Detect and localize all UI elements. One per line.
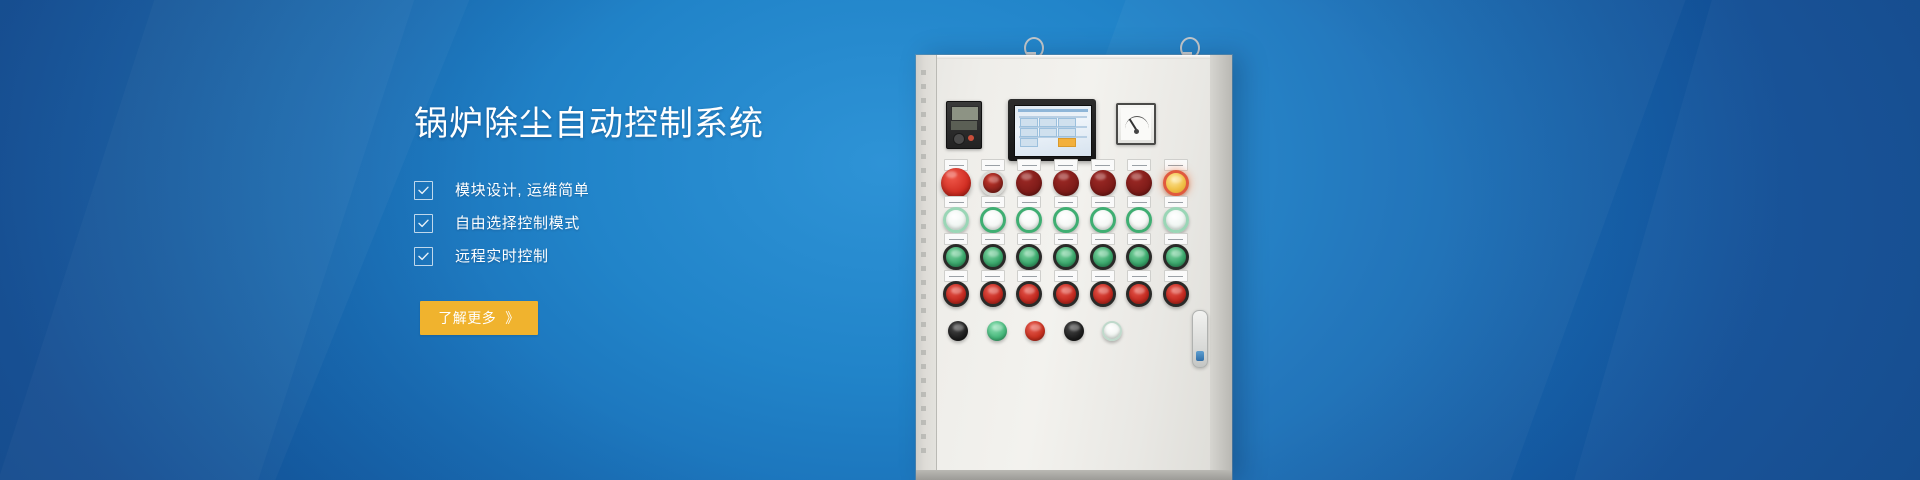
indicator-red-ringed[interactable]: [980, 170, 1006, 196]
button-green-start-5[interactable]: [1090, 244, 1116, 270]
cabinet-plinth: [916, 470, 1232, 480]
button-white-green-ring-7[interactable]: [1163, 207, 1189, 233]
button-white-green-ring-3[interactable]: [1016, 207, 1042, 233]
controller-display-lower: [951, 121, 977, 130]
button-green-start-2[interactable]: [980, 244, 1006, 270]
feature-label-2: 自由选择控制模式: [455, 215, 580, 232]
row-green-start: [943, 244, 1189, 270]
meter-scale-arc: [1125, 116, 1149, 129]
button-white-green-ring-4[interactable]: [1053, 207, 1079, 233]
hmi-cell: [1058, 118, 1076, 127]
cabinet-door-handle[interactable]: [1192, 310, 1208, 368]
chevron-right-double-icon: 》: [505, 311, 520, 325]
controller-display-upper: [951, 106, 979, 121]
button-red-stop-1[interactable]: [943, 281, 969, 307]
feature-item-2: 自由选择控制模式: [414, 207, 894, 240]
controller-knob-icon[interactable]: [953, 133, 965, 145]
button-white-green-ring-5[interactable]: [1090, 207, 1116, 233]
cabinet-hinge-strip: [916, 55, 937, 480]
analog-meter: [1116, 103, 1156, 145]
learn-more-label: 了解更多: [438, 308, 496, 328]
button-red-stop-5[interactable]: [1090, 281, 1116, 307]
cabinet-top-edge: [916, 55, 1232, 59]
indicator-white-small-1[interactable]: [1099, 318, 1125, 344]
indicator-red-1[interactable]: [1016, 170, 1042, 196]
hmi-touch-panel[interactable]: [1008, 99, 1096, 161]
row-red-stop: [943, 281, 1189, 307]
product-hero-banner: 锅炉除尘自动控制系统 模块设计, 运维简单 自由选择控制模式: [0, 0, 1920, 480]
checkbox-check-icon: [414, 214, 433, 233]
button-matrix: [943, 170, 1189, 355]
digital-temperature-controller[interactable]: [946, 101, 982, 149]
button-white-green-ring-2[interactable]: [980, 207, 1006, 233]
row-emergency-and-indicators: [943, 170, 1189, 196]
controller-status-led: [968, 135, 974, 141]
indicator-green-small-1[interactable]: [984, 318, 1010, 344]
button-red-stop-2[interactable]: [980, 281, 1006, 307]
cabinet-hinge-rivets: [921, 70, 926, 470]
door-lock-icon[interactable]: [1196, 351, 1204, 361]
hmi-cell: [1058, 128, 1076, 137]
checkbox-check-icon: [414, 181, 433, 200]
feature-label-1: 模块设计, 运维简单: [455, 182, 589, 199]
button-green-start-7[interactable]: [1163, 244, 1189, 270]
hmi-cell: [1039, 128, 1057, 137]
feature-item-1: 模块设计, 运维简单: [414, 174, 894, 207]
button-green-start-6[interactable]: [1126, 244, 1152, 270]
button-green-start-4[interactable]: [1053, 244, 1079, 270]
feature-list: 模块设计, 运维简单 自由选择控制模式 远程实时控制: [414, 174, 894, 273]
indicator-red-4[interactable]: [1126, 170, 1152, 196]
hmi-screen[interactable]: [1014, 105, 1092, 157]
button-red-stop-3[interactable]: [1016, 281, 1042, 307]
emergency-stop-button[interactable]: [943, 170, 969, 196]
hmi-cell-highlight: [1058, 138, 1076, 147]
hmi-title-bar: [1018, 109, 1088, 112]
hmi-cell: [1039, 118, 1057, 127]
feature-label-3: 远程实时控制: [455, 248, 549, 265]
hmi-cell: [1020, 118, 1038, 127]
indicator-red-2[interactable]: [1053, 170, 1079, 196]
learn-more-button[interactable]: 了解更多 》: [420, 301, 538, 335]
indicator-amber-lit[interactable]: [1163, 170, 1189, 196]
button-white-green-ring-6[interactable]: [1126, 207, 1152, 233]
button-red-stop-4[interactable]: [1053, 281, 1079, 307]
banner-copy-block: 锅炉除尘自动控制系统 模块设计, 运维简单 自由选择控制模式: [414, 104, 894, 335]
button-green-start-3[interactable]: [1016, 244, 1042, 270]
cabinet-door-right-edge: [1210, 55, 1232, 480]
control-cabinet-photo: [880, 0, 1920, 480]
row-mixed-selector: [945, 318, 1125, 344]
button-green-start-1[interactable]: [943, 244, 969, 270]
row-white-green-ring: [943, 207, 1189, 233]
indicator-red-small-1[interactable]: [1022, 318, 1048, 344]
button-red-stop-6[interactable]: [1126, 281, 1152, 307]
hmi-cell: [1020, 138, 1038, 147]
feature-item-3: 远程实时控制: [414, 240, 894, 273]
selector-black-2[interactable]: [1061, 318, 1087, 344]
button-white-green-ring-1[interactable]: [943, 207, 969, 233]
indicator-red-3[interactable]: [1090, 170, 1116, 196]
hmi-cell: [1020, 128, 1038, 137]
selector-black-1[interactable]: [945, 318, 971, 344]
meter-face: [1121, 108, 1151, 140]
checkbox-check-icon: [414, 247, 433, 266]
meter-pivot: [1134, 129, 1139, 134]
button-red-stop-7[interactable]: [1163, 281, 1189, 307]
page-title: 锅炉除尘自动控制系统: [414, 104, 894, 144]
